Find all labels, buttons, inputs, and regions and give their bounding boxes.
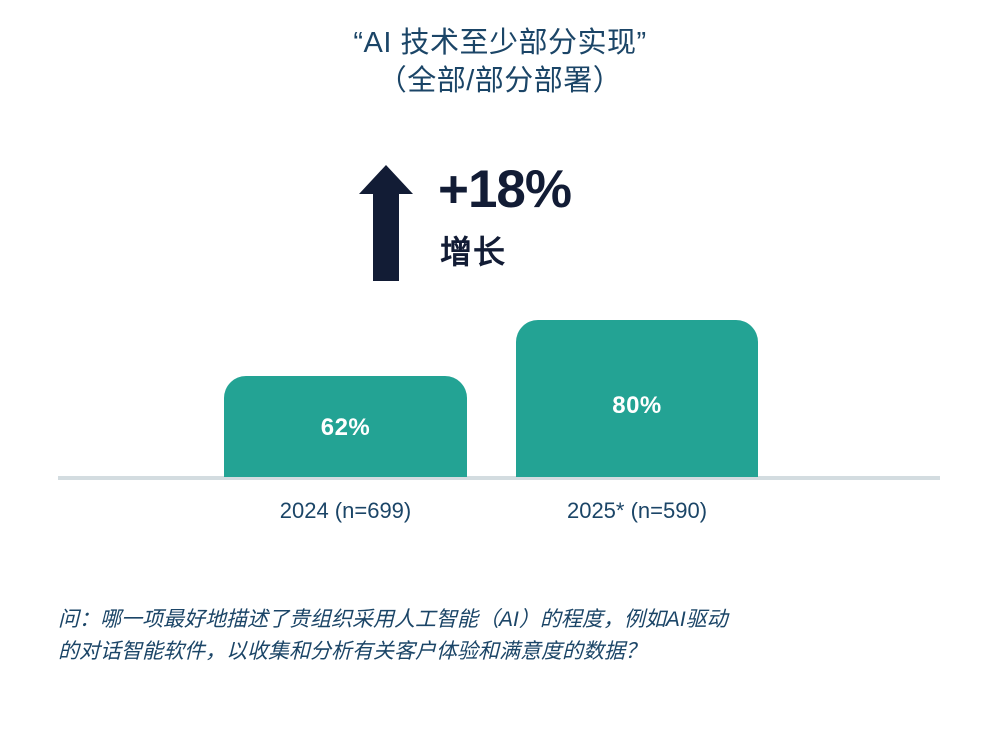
bar-2025: 80% <box>516 320 758 477</box>
bar-2024: 62% <box>224 376 467 477</box>
footnote: 问：哪一项最好地描述了贵组织采用人工智能（AI）的程度，例如AI驱动 的对话智能… <box>58 604 983 668</box>
category-label-2025: 2025* (n=590) <box>516 496 758 526</box>
category-label-2024: 2024 (n=699) <box>224 496 467 526</box>
bar-value-2024: 62% <box>224 414 467 442</box>
slide-canvas: “AI 技术至少部分实现” （全部/部分部署） +18% 增长 62% 80% … <box>0 0 1000 730</box>
chart-baseline <box>58 476 940 480</box>
bar-value-2025: 80% <box>516 392 758 420</box>
footnote-line-2: 的对话智能软件，以收集和分析有关客户体验和满意度的数据？ <box>58 636 983 668</box>
footnote-line-1: 问：哪一项最好地描述了贵组织采用人工智能（AI）的程度，例如AI驱动 <box>58 604 983 636</box>
